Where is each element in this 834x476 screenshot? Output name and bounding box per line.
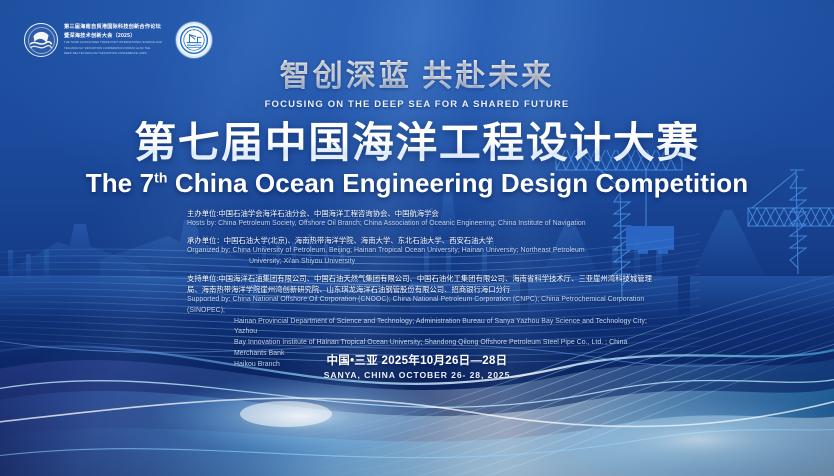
organizer-group-hosts: 主办单位:中国石油学会海洋石油分会、中国海洋工程咨询协会、中国航海学会 Host… bbox=[187, 208, 655, 230]
poster-canvas: 第三届海南自贸港国际科技创新合作论坛 暨深海技术创新大会（2025） THE T… bbox=[0, 0, 834, 476]
main-title-en-ordinal: th bbox=[154, 169, 167, 185]
main-title-english: The 7th China Ocean Engineering Design C… bbox=[0, 169, 834, 199]
organized-en-line2: University; Xi'an Shiyou University bbox=[187, 257, 655, 268]
organizer-group-organized: 承办单位：中国石油大学(北京)、海南热带海洋学院、海南大学、东北石油大学、西安石… bbox=[187, 235, 655, 268]
main-title-en-post: China Ocean Engineering Design Competiti… bbox=[168, 168, 749, 198]
title-block: 智创深蓝 共赴未来 FOCUSING ON THE DEEP SEA FOR A… bbox=[0, 60, 834, 199]
ocean-university-seal-icon[interactable] bbox=[176, 22, 212, 58]
main-title-en-pre: The 7 bbox=[86, 168, 154, 198]
supported-en-line1: Supported by: China National Offshore Oi… bbox=[187, 295, 655, 316]
main-title-chinese: 第七届中国海洋工程设计大赛 bbox=[0, 121, 834, 167]
supported-cn: 支持单位:中国海洋石油集团有限公司、中国石油天然气集团有限公司、中国石油化工集团… bbox=[187, 273, 655, 296]
event-date-block: 中国•三亚 2025年10月26日—28日 SANYA, CHINA OCTOB… bbox=[0, 352, 834, 380]
forum-logo-en-line1: THE THIRD HAINAN FREE TRADE PORT INTERNA… bbox=[64, 41, 162, 45]
header-logos: 第三届海南自贸港国际科技创新合作论坛 暨深海技术创新大会（2025） THE T… bbox=[24, 22, 212, 58]
forum-logo-cn-line2: 暨深海技术创新大会（2025） bbox=[64, 33, 162, 41]
slogan-english: FOCUSING ON THE DEEP SEA FOR A SHARED FU… bbox=[0, 99, 834, 110]
event-date-chinese: 中国•三亚 2025年10月26日—28日 bbox=[0, 352, 834, 368]
hosts-cn: 主办单位:中国石油学会海洋石油分会、中国海洋工程咨询协会、中国航海学会 bbox=[187, 208, 655, 219]
hosts-en-line1: Hosts by: China Petroleum Society, Offsh… bbox=[187, 219, 655, 230]
forum-logo[interactable]: 第三届海南自贸港国际科技创新合作论坛 暨深海技术创新大会（2025） THE T… bbox=[24, 23, 162, 57]
forum-logo-cn-line1: 第三届海南自贸港国际科技创新合作论坛 bbox=[64, 24, 162, 32]
forum-logo-en-line2: TECHNOLOGY INNOVATION COOPERATION FORUM,… bbox=[64, 47, 162, 51]
supported-en-line2: Hainan Provincial Department of Science … bbox=[187, 317, 655, 338]
event-date-english: SANYA, CHINA OCTOBER 26- 28, 2025 bbox=[0, 370, 834, 380]
forum-logo-en-line3: DEEP-SEA TECHNOLOGY INNOVATION CONFERENC… bbox=[64, 52, 162, 56]
organized-en-line1: Organized by: China University of Petrol… bbox=[187, 246, 655, 257]
slogan-chinese: 智创深蓝 共赴未来 bbox=[0, 60, 834, 95]
organized-cn: 承办单位：中国石油大学(北京)、海南热带海洋学院、海南大学、东北石油大学、西安石… bbox=[187, 235, 655, 246]
organizers-block: 主办单位:中国石油学会海洋石油分会、中国海洋工程咨询协会、中国航海学会 Host… bbox=[187, 208, 655, 375]
wave-seal-icon bbox=[24, 23, 58, 57]
